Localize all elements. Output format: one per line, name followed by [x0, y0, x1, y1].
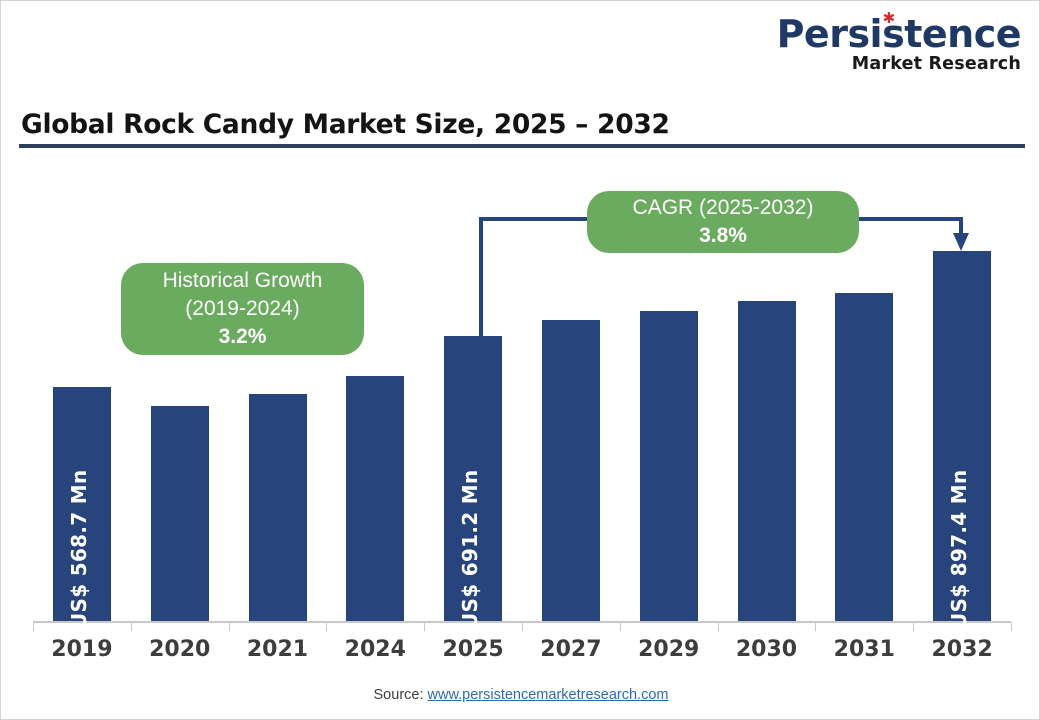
- x-axis-label-2027: 2027: [522, 637, 620, 662]
- bar-2030: [738, 301, 796, 621]
- axis-tick: [131, 622, 132, 631]
- bar-value-label-2032: US$ 897.4 Mn: [947, 470, 971, 630]
- x-axis-label-2019: 2019: [33, 637, 131, 662]
- bar-value-label-2025: US$ 691.2 Mn: [458, 470, 482, 630]
- axis-tick: [424, 622, 425, 631]
- x-axis-label-2031: 2031: [815, 637, 913, 662]
- historical-growth-line2: (2019-2024): [185, 295, 299, 323]
- bar-2029: [640, 311, 698, 621]
- bar-2027: [542, 320, 600, 621]
- arrow-head-icon: [953, 233, 969, 251]
- cagr-line1: CAGR (2025-2032): [633, 194, 814, 222]
- axis-tick: [1011, 622, 1012, 631]
- axis-tick: [620, 622, 621, 631]
- axis-tick: [326, 622, 327, 631]
- cagr-value: 3.8%: [699, 222, 747, 250]
- historical-growth-value: 3.2%: [219, 323, 267, 351]
- axis-tick: [718, 622, 719, 631]
- axis-tick: [522, 622, 523, 631]
- x-axis-label-2030: 2030: [718, 637, 816, 662]
- x-axis-label-2029: 2029: [620, 637, 718, 662]
- axis-tick: [229, 622, 230, 631]
- bar-2021: [249, 394, 307, 621]
- source-note: Source: www.persistencemarketresearch.co…: [1, 687, 1040, 703]
- axis-tick: [33, 622, 34, 631]
- chart-page: Persistence ✱ Market Research Global Roc…: [0, 0, 1040, 720]
- historical-growth-badge: Historical Growth (2019-2024) 3.2%: [121, 263, 364, 355]
- bar-2024: [346, 376, 404, 621]
- bar-2031: [835, 293, 893, 621]
- bar-2020: [151, 406, 209, 621]
- x-axis-label-2024: 2024: [326, 637, 424, 662]
- x-axis-label-2020: 2020: [131, 637, 229, 662]
- axis-tick: [913, 622, 914, 631]
- axis-tick: [815, 622, 816, 631]
- source-link[interactable]: www.persistencemarketresearch.com: [428, 687, 669, 703]
- x-axis-label-2021: 2021: [229, 637, 327, 662]
- source-prefix: Source:: [374, 687, 428, 703]
- x-axis-label-2025: 2025: [424, 637, 522, 662]
- x-axis-label-2032: 2032: [913, 637, 1011, 662]
- bar-chart: US$ 568.7 MnUS$ 691.2 MnUS$ 897.4 Mn 201…: [1, 1, 1040, 720]
- cagr-badge: CAGR (2025-2032) 3.8%: [587, 191, 859, 253]
- bar-value-label-2019: US$ 568.7 Mn: [67, 470, 91, 630]
- historical-growth-line1: Historical Growth: [163, 267, 323, 295]
